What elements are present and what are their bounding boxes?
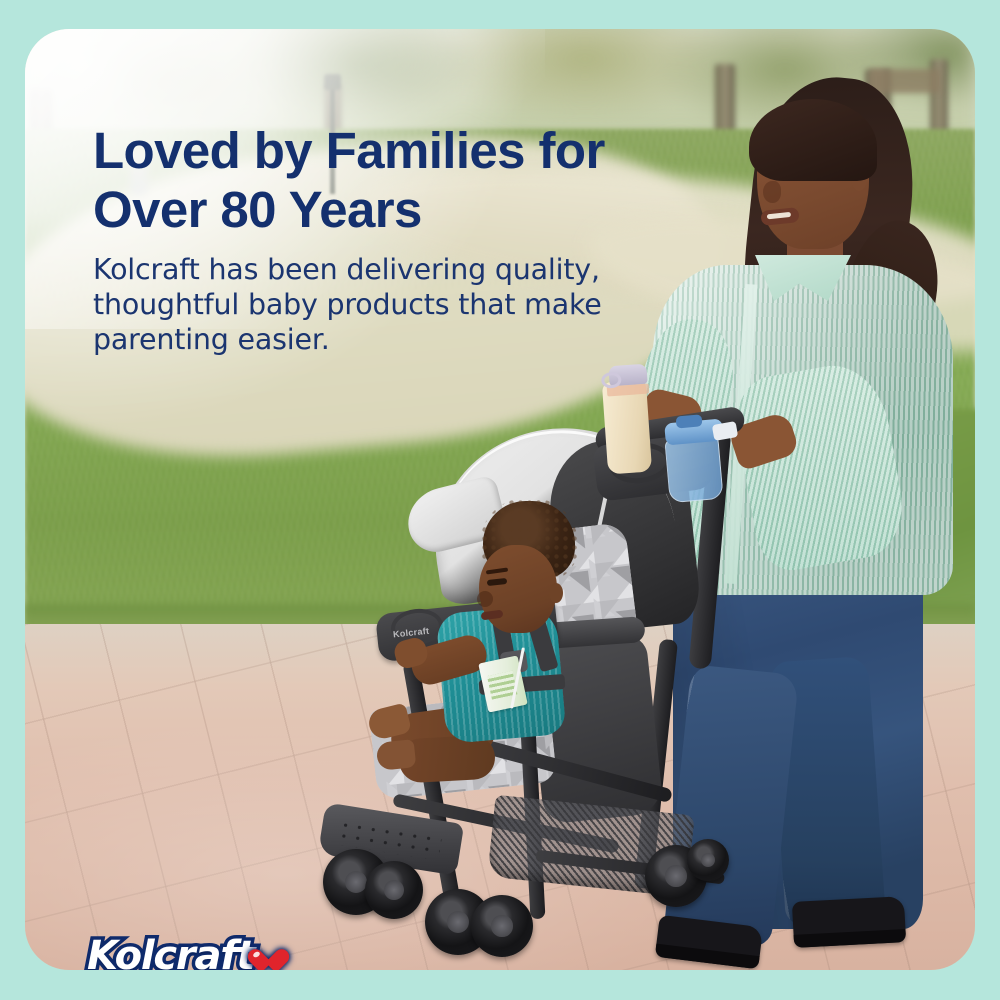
wheel — [687, 839, 729, 881]
subcopy-line-3: parenting easier. — [93, 323, 330, 356]
wheel — [471, 895, 533, 957]
face — [479, 545, 557, 633]
lifestyle-photo: Kolcraft — [25, 29, 975, 970]
foot — [376, 739, 417, 771]
heart-shine — [253, 950, 262, 958]
ear — [549, 583, 563, 603]
sippy-cup — [664, 435, 723, 503]
subcopy-line-2: thoughtful baby products that make — [93, 288, 602, 321]
shoe — [792, 896, 906, 948]
heart-icon — [248, 948, 276, 971]
headline-line-1: Loved by Families for — [93, 122, 605, 179]
headline-line-2: Over 80 Years — [93, 181, 422, 238]
wheel — [365, 861, 423, 919]
baby-figure — [383, 501, 603, 801]
kolcraft-logo: Kolcraft — [87, 932, 287, 970]
wheel-hub — [665, 865, 686, 886]
nose — [763, 181, 781, 203]
water-bottle-cap — [608, 364, 647, 387]
copy-block: Loved by Families for Over 80 Years Kolc… — [93, 121, 673, 357]
wheel-hub — [701, 853, 715, 867]
wheel-hub — [447, 911, 469, 933]
kolcraft-wordmark: Kolcraft — [87, 936, 254, 970]
subcopy-line-1: Kolcraft has been delivering quality, — [93, 253, 600, 286]
subheadline: Kolcraft has been delivering quality, th… — [93, 252, 673, 357]
headline: Loved by Families for Over 80 Years — [93, 121, 673, 239]
wheel-hub — [491, 915, 512, 936]
sippy-cup-handle — [712, 421, 738, 441]
wheel-hub — [345, 871, 367, 893]
ad-frame: Kolcraft — [0, 0, 1000, 1000]
wheel-hub — [384, 880, 404, 900]
nose — [477, 591, 493, 607]
